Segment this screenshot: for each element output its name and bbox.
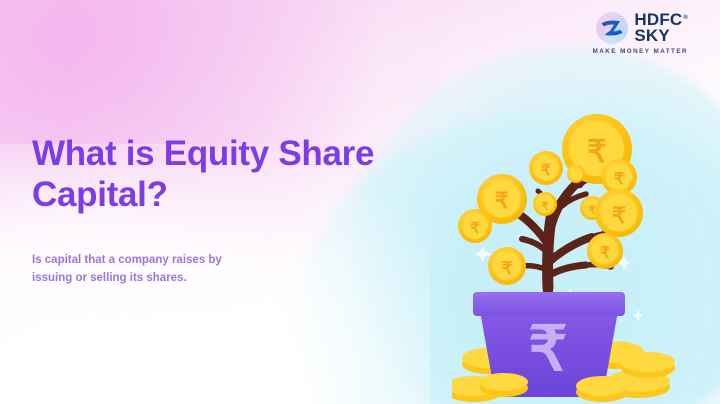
svg-text:₹: ₹ xyxy=(587,134,607,169)
hdfc-sky-swoosh-icon xyxy=(596,12,628,44)
coin xyxy=(567,165,585,183)
page-title: What is Equity Share Capital? xyxy=(32,133,452,216)
brand-wordmark: HDFC® SKY xyxy=(634,12,688,43)
coin: ₹ xyxy=(458,209,492,243)
brand-name-hdfc-text: HDFC xyxy=(634,10,682,29)
pot-rupee-symbol: ₹ xyxy=(528,315,567,384)
brand-name-hdfc: HDFC® xyxy=(634,12,688,28)
svg-text:₹: ₹ xyxy=(470,220,480,237)
page-subtitle-line-2: issuing or selling its shares. xyxy=(32,270,332,288)
brand-name-sky: SKY xyxy=(634,28,670,44)
registered-trademark-icon: ® xyxy=(683,15,688,21)
svg-text:₹: ₹ xyxy=(542,201,549,213)
coin: ₹ xyxy=(533,192,557,216)
brand-tagline: MAKE MONEY MATTER xyxy=(593,49,688,55)
svg-text:₹: ₹ xyxy=(541,162,551,179)
poster-canvas: HDFC® SKY MAKE MONEY MATTER What is Equi… xyxy=(0,0,720,404)
money-tree-illustration: ₹ ₹ ₹ ₹ xyxy=(452,96,702,404)
svg-text:₹: ₹ xyxy=(502,259,513,278)
svg-text:₹: ₹ xyxy=(612,203,626,228)
brand-logo-row: HDFC® SKY xyxy=(593,12,688,44)
page-subtitle-line-1: Is capital that a company raises by xyxy=(32,252,332,270)
page-subtitle: Is capital that a company raises by issu… xyxy=(32,252,332,288)
coin: ₹ xyxy=(595,189,643,237)
svg-text:₹: ₹ xyxy=(614,171,624,188)
coin: ₹ xyxy=(488,247,526,285)
coin: ₹ xyxy=(529,151,563,185)
svg-text:₹: ₹ xyxy=(495,188,509,213)
coin: ₹ xyxy=(587,233,623,269)
brand-logo: HDFC® SKY MAKE MONEY MATTER xyxy=(593,12,688,55)
svg-text:₹: ₹ xyxy=(589,205,596,217)
svg-text:₹: ₹ xyxy=(600,245,610,262)
